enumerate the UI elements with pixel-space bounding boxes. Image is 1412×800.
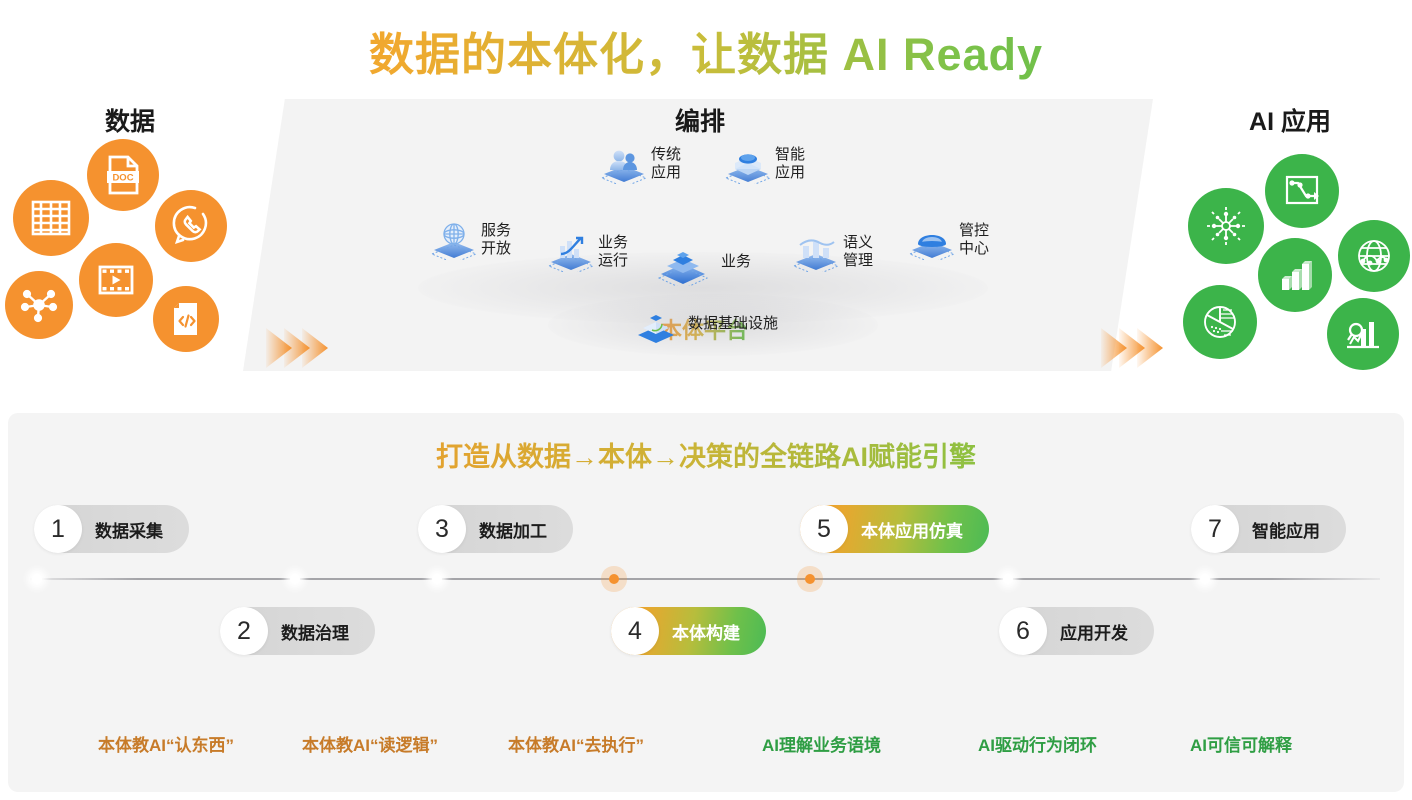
step-pill-1[interactable]: 1 数据采集 [34,505,189,553]
step-label: 智能应用 [1252,517,1320,542]
node-label: 传统 应用 [651,146,681,181]
node-label: 数据基础设施 [688,315,778,333]
step-pill-4[interactable]: 4 本体构建 [611,607,766,655]
step-number: 3 [418,505,466,553]
stack-cube-icon [630,304,682,344]
gear-cube-icon [790,232,842,272]
triple-chevron-right-icon-2 [1097,320,1169,376]
service-open-node: 服务 开放 [428,220,511,260]
chart-cube-icon [545,232,597,272]
chart-magnifier-icon [1327,298,1399,370]
svg-text:DOC: DOC [112,172,133,183]
video-film-icon [79,243,153,317]
caption-1: 本体教AI“认东西” [98,731,234,756]
code-file-icon [153,286,219,352]
step-pill-2[interactable]: 2 数据治理 [220,607,375,655]
semantic-mgmt-node: 语义 管理 [790,232,873,272]
step-number: 4 [611,607,659,655]
bar-chart-3d-icon [1258,238,1332,312]
users-cube-icon [598,144,650,184]
step-label: 数据采集 [95,517,163,542]
intelligent-app-node: 智能 应用 [722,144,805,184]
step-label: 数据加工 [479,517,547,542]
column-label-orchestration: 编排 [600,102,800,138]
step-number: 7 [1191,505,1239,553]
step-number: 5 [800,505,848,553]
caption-6: AI可信可解释 [1190,731,1292,756]
doc-file-icon: DOC [87,139,159,211]
business-run-node: 业务 运行 [545,232,628,272]
step-pill-5[interactable]: 5 本体应用仿真 [800,505,989,553]
timeline-dot [290,574,300,584]
timeline-dot [32,574,42,584]
step-pill-7[interactable]: 7 智能应用 [1191,505,1346,553]
timeline-axis [30,578,1380,580]
business-node: 业务 [655,242,751,282]
traditional-app-node: 传统 应用 [598,144,681,184]
network-graph-icon [5,271,73,339]
step-label: 数据治理 [281,619,349,644]
node-label: 服务 开放 [481,222,511,257]
step-label: 本体应用仿真 [861,517,963,542]
step-label: 应用开发 [1060,619,1128,644]
globe-cube-icon [428,220,480,260]
node-label: 业务 运行 [598,234,628,269]
spreadsheet-table-icon [13,180,89,256]
center-cube-icon [655,242,707,282]
pie-chart-icon [1183,285,1257,359]
caption-3: 本体教AI“去执行” [508,731,644,756]
line-chart-icon [1265,154,1339,228]
node-label: 管控 中心 [959,222,989,257]
caption-5: AI驱动行为闭环 [978,731,1097,756]
data-infrastructure-node: 数据基础设施 [630,304,778,344]
column-label-data: 数据 [40,102,220,138]
architecture-diagram: 数据 编排 AI 应用 DOC [0,92,1412,392]
step-pill-3[interactable]: 3 数据加工 [418,505,573,553]
timeline-dot [432,574,442,584]
timeline-dot-active [805,574,815,584]
cloud-cube-icon [722,144,774,184]
roadmap-subtitle: 打造从数据→本体→决策的全链路AI赋能引擎 [8,435,1404,474]
column-label-ai-application: AI 应用 [1190,102,1390,138]
node-label: 业务 [721,253,751,271]
node-label: 智能 应用 [775,146,805,181]
page-title: 数据的本体化，让数据 AI Ready [0,18,1412,83]
step-number: 2 [220,607,268,655]
globe-network-icon [1338,220,1410,292]
step-label: 本体构建 [672,619,740,644]
node-label: 语义 管理 [843,234,873,269]
timeline-dot [1003,574,1013,584]
step-number: 6 [999,607,1047,655]
slide-root: 数据的本体化，让数据 AI Ready 数据 编排 AI 应用 [0,0,1412,800]
triple-chevron-right-icon [262,320,334,376]
caption-2: 本体教AI“读逻辑” [302,731,438,756]
phone-call-icon [155,190,227,262]
timeline-dot [1200,574,1210,584]
radial-burst-icon [1188,188,1264,264]
step-number: 1 [34,505,82,553]
caption-4: AI理解业务语境 [762,731,881,756]
step-pill-6[interactable]: 6 应用开发 [999,607,1154,655]
shield-cube-icon [906,220,958,260]
control-center-node: 管控 中心 [906,220,989,260]
timeline-dot-active [609,574,619,584]
